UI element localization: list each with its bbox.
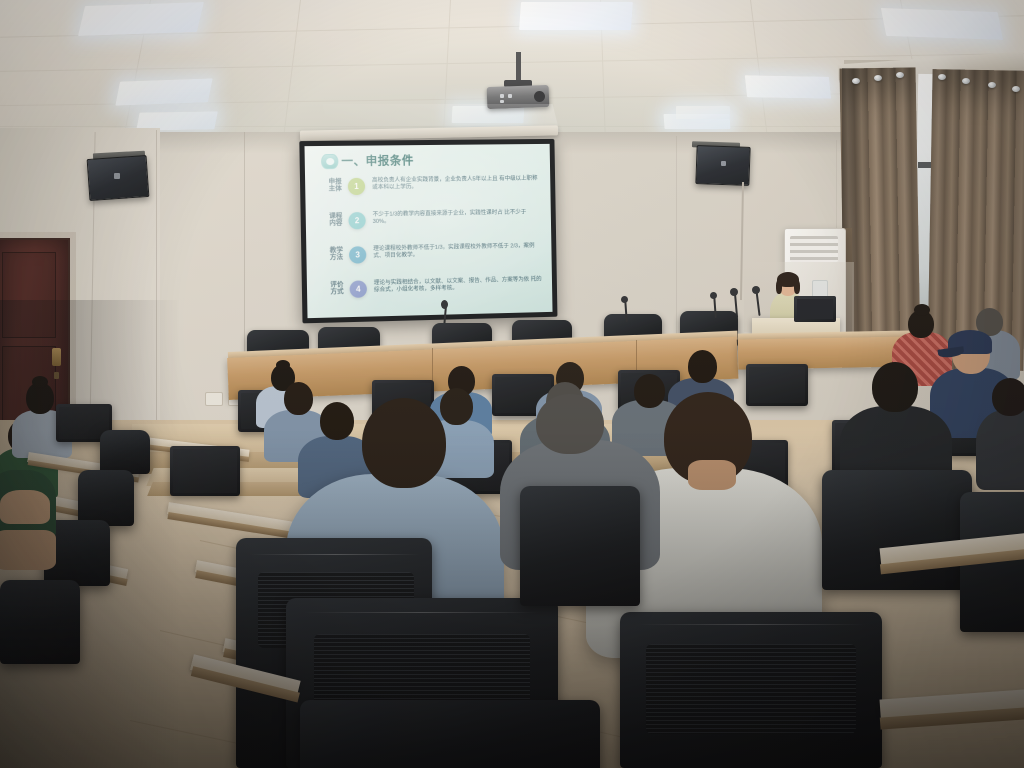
attendee-blue-shirt-front-head [362,398,446,488]
door-handle[interactable] [52,348,61,366]
wall-seam [156,130,157,430]
door-lock-icon [54,372,59,379]
projector-indicator [500,94,504,98]
audience-chair[interactable] [0,580,80,664]
audience-chair[interactable] [78,470,134,526]
curtain-grommet [896,72,904,78]
window-mullion [918,162,932,168]
attendee-seated-left-leg [0,530,56,570]
monitor-screen [749,367,805,403]
microphone-capsule [710,292,717,299]
projector-indicator [508,94,512,98]
monitor-screen [173,449,237,493]
curtain-grommet [938,74,946,80]
attendee-darkblue-head [320,402,354,440]
chair-highlight [638,624,866,625]
wall-seam [676,136,677,336]
attendee-blue-polo2-head [284,382,313,415]
attendee-far-right-body [976,410,1024,490]
attendee-floral-bun [914,304,930,316]
curtain-grommet [962,78,970,84]
chair-highlight [304,612,540,613]
curtain-grommet [852,78,860,84]
audience-chair[interactable] [620,612,882,768]
attendee-left-bun-knot [32,376,48,388]
attendee-bun [276,360,290,370]
audience-chair[interactable] [300,700,600,768]
projection-screen-frame: 一、申报条件 申报 主体 1 高校负责人有企业实践背景，企业负责人5年以上且 有… [299,139,557,323]
podium-monitor-screen [797,299,833,319]
screen-projector-wash [304,144,552,318]
door-panel [2,252,56,338]
chair-highlight [250,554,420,555]
wall-seam [244,132,245,382]
attendee-grey-front-head [536,394,604,454]
curtain-grommet [988,82,996,88]
curtain-grommet [874,75,882,81]
attendee-greyshirt-head [634,374,665,408]
speaker-logo-icon [114,173,120,179]
microphone-capsule [730,288,738,296]
chair-mesh-back [646,644,856,734]
speaker-logo-icon [721,161,726,166]
wall-outlet[interactable] [205,392,223,406]
presenter-hair-side [776,280,782,294]
curtain-grommet [1012,86,1020,92]
attendee-seated-left-arm [0,490,50,524]
audience-chair[interactable] [520,486,640,606]
projector-lens [534,91,545,102]
attendee-white-tee-neck [688,460,736,490]
microphone-capsule [752,286,760,294]
attendee-lightblue-head [440,388,473,425]
audience-chair[interactable] [100,430,150,474]
microphone-capsule [621,296,628,303]
classroom-photo-scene: 一、申报条件 申报 主体 1 高校负责人有企业实践背景，企业负责人5年以上且 有… [0,0,1024,768]
attendee-navy-head [688,350,717,383]
attendee-darktee-right-head [872,362,918,412]
presenter-hair-side [794,280,800,294]
microphone-capsule [441,300,448,309]
ac-vent-icon [790,236,838,262]
projector-indicator [500,100,504,103]
projection-screen: 一、申报条件 申报 主体 1 高校负责人有企业实践背景，企业负责人5年以上且 有… [304,144,552,318]
attendee-far-right-head [992,378,1024,416]
